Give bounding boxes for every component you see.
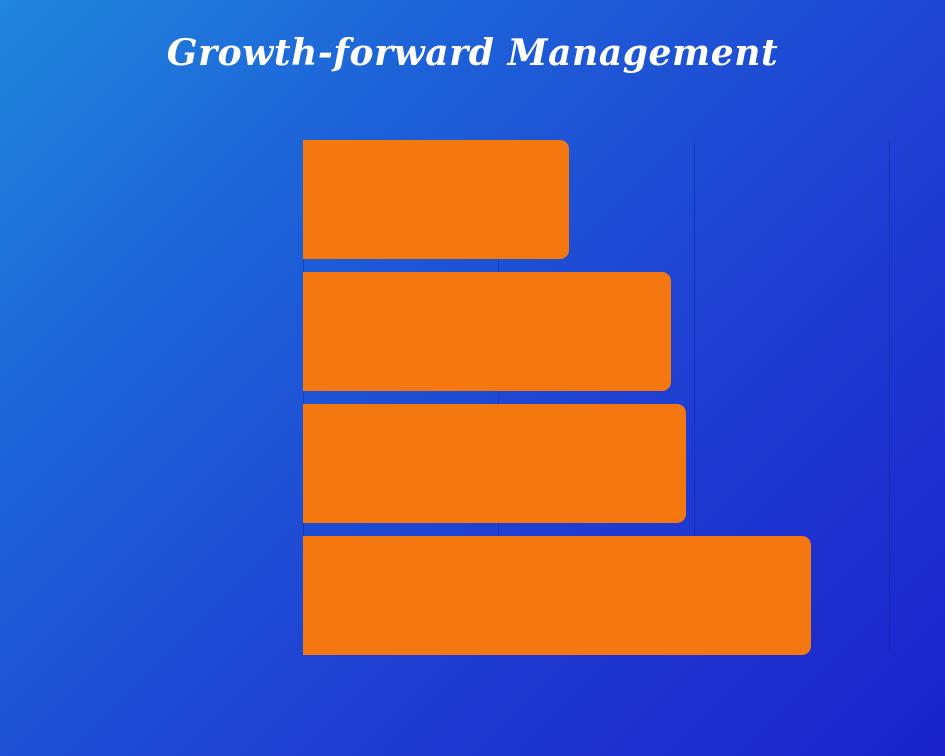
gridline-75 — [889, 140, 890, 653]
chart-slide: Growth-forward Management Work/Company C… — [0, 0, 945, 756]
bar[interactable] — [303, 536, 811, 655]
plot-area: Work/Company Commitment Trust in colleag… — [303, 140, 890, 653]
bar[interactable] — [303, 140, 569, 259]
bar[interactable] — [303, 404, 686, 523]
chart-title: Growth-forward Management — [0, 32, 945, 74]
bar[interactable] — [303, 272, 671, 391]
